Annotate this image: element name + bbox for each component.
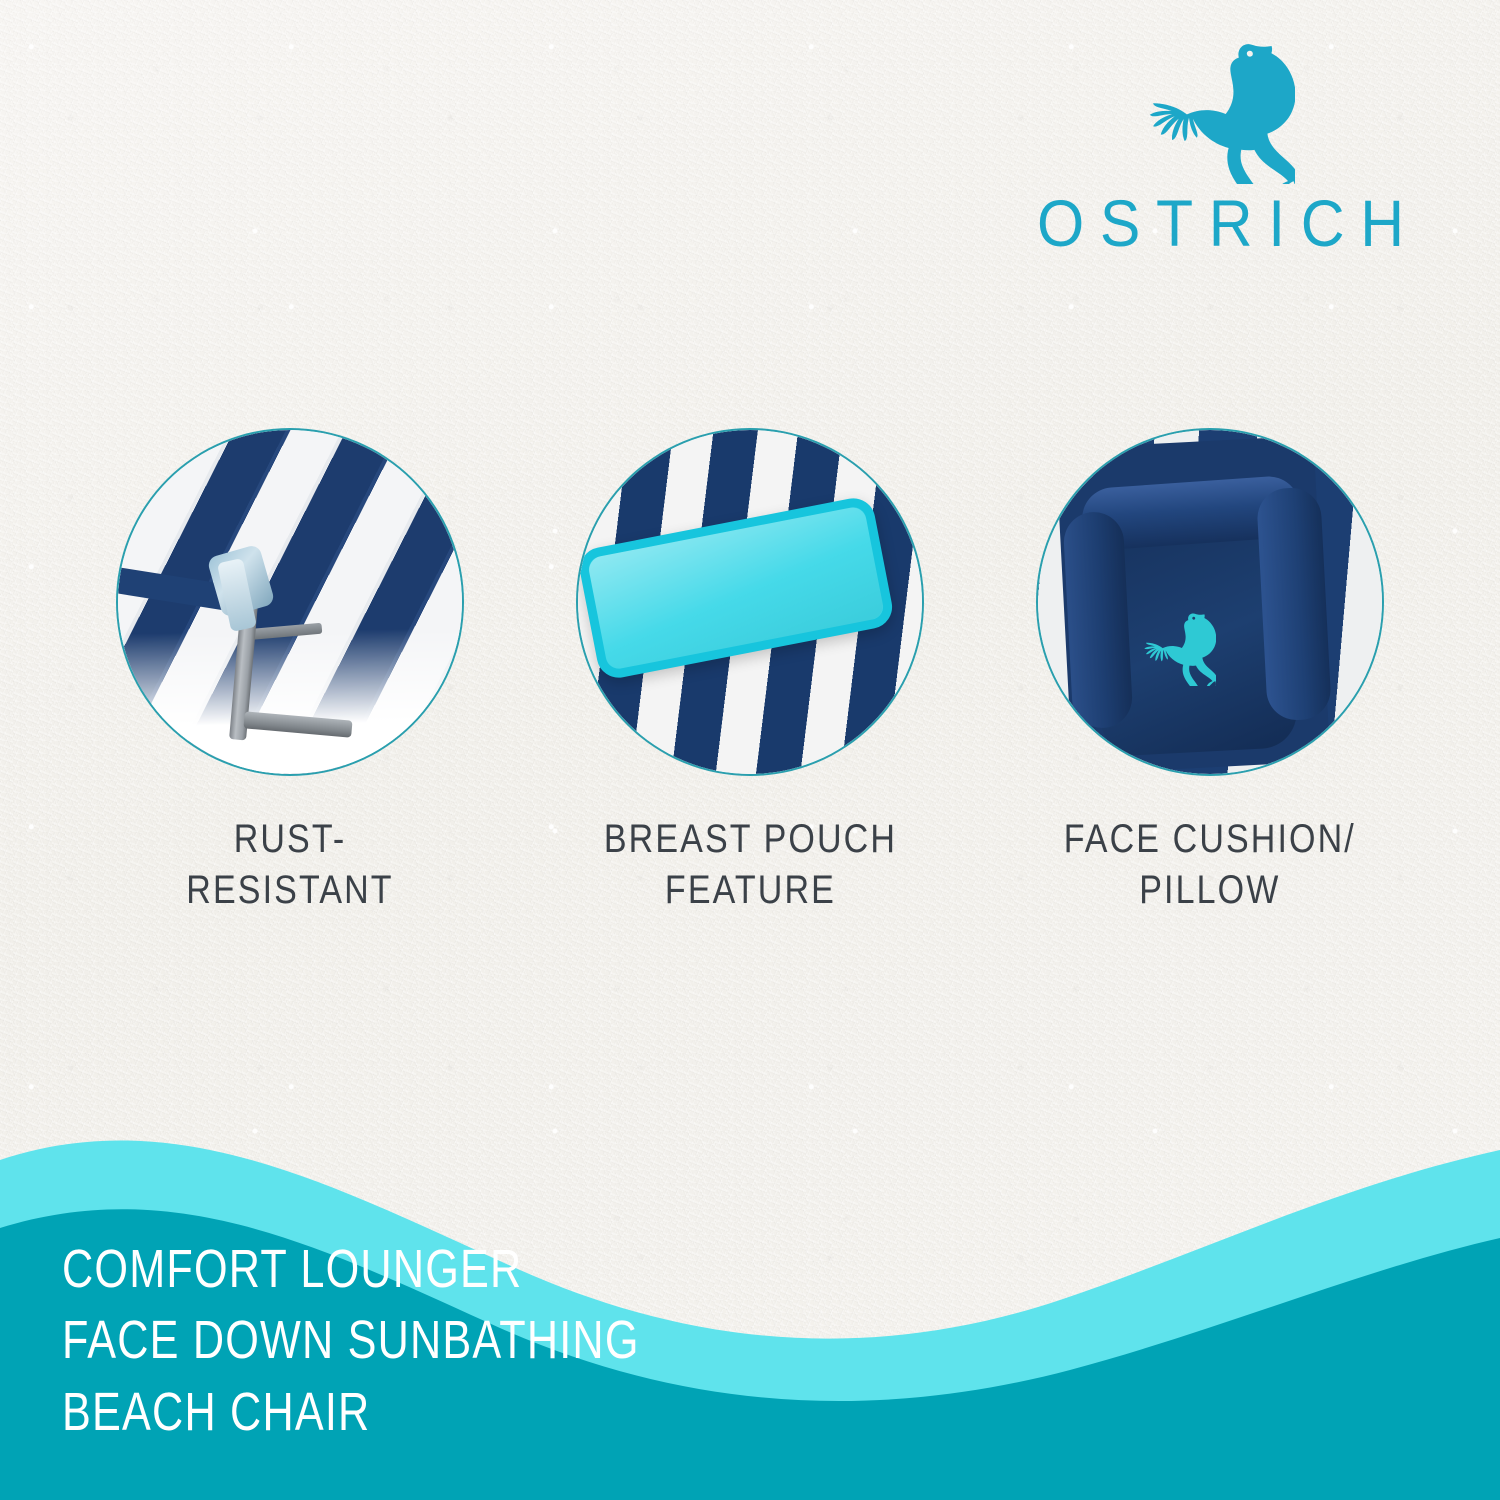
feature-rust-resistant: RUST- RESISTANT xyxy=(60,430,520,916)
cushion-bolster-right xyxy=(1256,486,1332,721)
ostrich-bird-icon xyxy=(1145,36,1295,184)
ostrich-bird-icon xyxy=(1142,606,1216,686)
pouch-illustration xyxy=(578,430,922,774)
feature-image-breast-pouch xyxy=(578,430,922,774)
brand-wordmark: OSTRICH xyxy=(1021,190,1419,256)
feature-row: RUST- RESISTANT BREAST POUCH FEATURE xyxy=(0,430,1500,950)
brand-logo: OSTRICH xyxy=(1010,36,1430,276)
product-title: COMFORT LOUNGER FACE DOWN SUNBATHING BEA… xyxy=(62,1234,640,1448)
wave-footer: COMFORT LOUNGER FACE DOWN SUNBATHING BEA… xyxy=(0,1120,1500,1500)
feature-image-rust-resistant xyxy=(118,430,462,774)
feature-face-cushion: FACE CUSHION/ PILLOW xyxy=(980,430,1440,916)
striped-fabric-metal-leg-illustration xyxy=(118,430,462,774)
feature-caption-rust-resistant: RUST- RESISTANT xyxy=(186,814,393,916)
feature-caption-breast-pouch: BREAST POUCH FEATURE xyxy=(603,814,896,916)
feature-caption-face-cushion: FACE CUSHION/ PILLOW xyxy=(1064,814,1356,916)
cushion-bolster-left xyxy=(1062,511,1133,730)
feature-image-face-cushion xyxy=(1038,430,1382,774)
infographic-page: OSTRICH RUST- RESISTANT xyxy=(0,0,1500,1500)
face-cushion-illustration xyxy=(1038,430,1382,774)
feature-breast-pouch: BREAST POUCH FEATURE xyxy=(520,430,980,916)
